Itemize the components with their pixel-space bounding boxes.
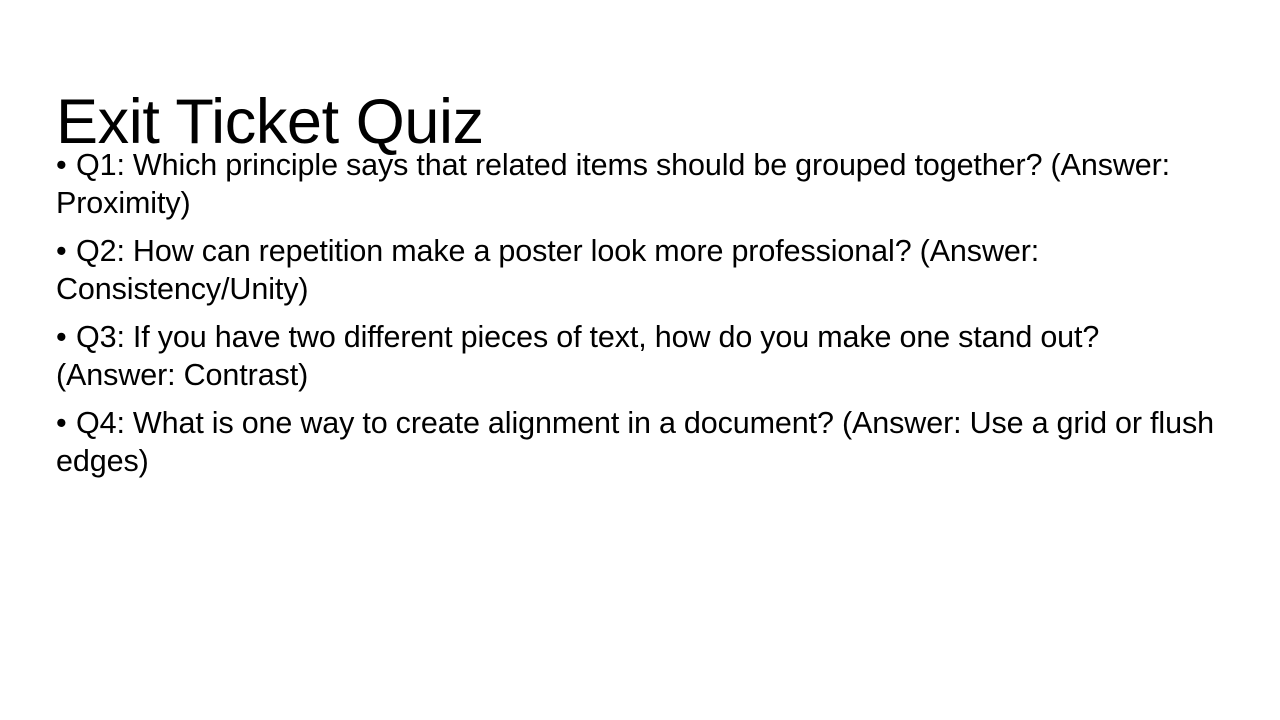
- bullet-list: •Q1: Which principle says that related i…: [56, 146, 1218, 480]
- list-item: •Q1: Which principle says that related i…: [56, 146, 1218, 222]
- bullet-icon: •: [56, 404, 76, 442]
- list-item-text: Q4: What is one way to create alignment …: [56, 406, 1214, 478]
- bullet-icon: •: [56, 318, 76, 356]
- bullet-icon: •: [56, 146, 76, 184]
- list-item-text: Q3: If you have two different pieces of …: [56, 320, 1099, 392]
- list-item-text: Q1: Which principle says that related it…: [56, 148, 1170, 220]
- list-item-text: Q2: How can repetition make a poster loo…: [56, 234, 1039, 306]
- list-item: •Q2: How can repetition make a poster lo…: [56, 232, 1218, 308]
- list-item: •Q3: If you have two different pieces of…: [56, 318, 1218, 394]
- list-item: •Q4: What is one way to create alignment…: [56, 404, 1218, 480]
- slide-canvas: Exit Ticket Quiz •Q1: Which principle sa…: [0, 0, 1280, 720]
- bullet-icon: •: [56, 232, 76, 270]
